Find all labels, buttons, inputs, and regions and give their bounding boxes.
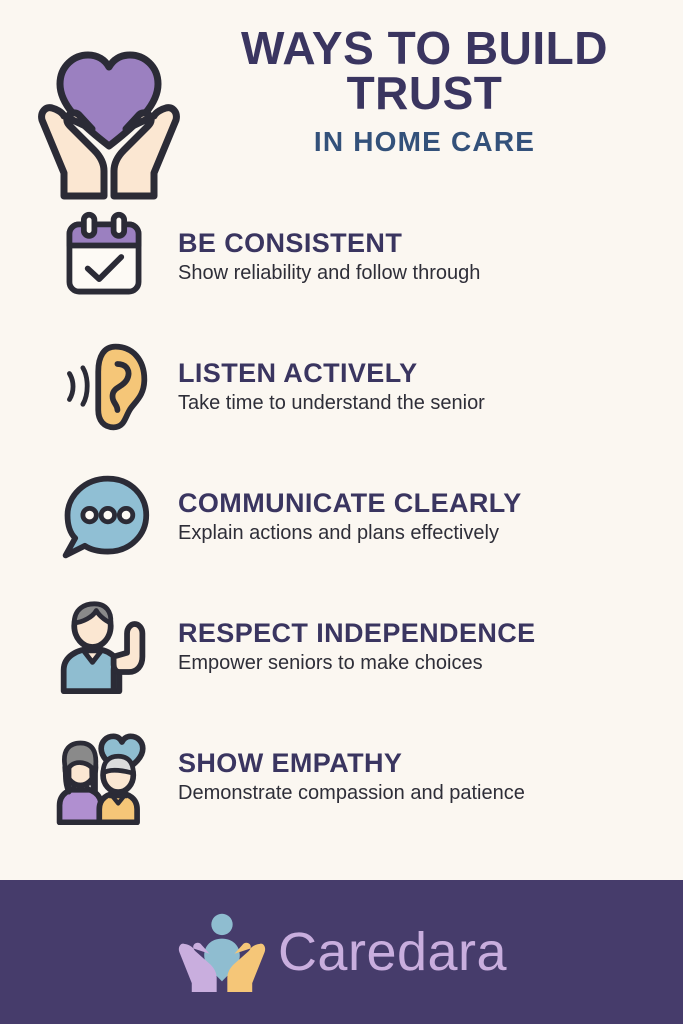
- hands-holding-person-logo-icon: [176, 912, 268, 992]
- list-item: LISTEN ACTIVELY Take time to understand …: [0, 322, 683, 452]
- list-item-desc: Show reliability and follow through: [178, 261, 683, 285]
- list-item-title: LISTEN ACTIVELY: [178, 359, 683, 387]
- list-item-title: COMMUNICATE CLEARLY: [178, 489, 683, 517]
- footer-brand-band: Caredara: [0, 880, 683, 1024]
- list-item-title: BE CONSISTENT: [178, 229, 683, 257]
- list-item-title: SHOW EMPATHY: [178, 749, 683, 777]
- hands-holding-heart-icon: [34, 30, 182, 205]
- speech-bubble-icon: [44, 469, 164, 565]
- list-item-desc: Demonstrate compassion and patience: [178, 781, 683, 805]
- list-item: RESPECT INDEPENDENCE Empower seniors to …: [0, 582, 683, 712]
- list-item-text: COMMUNICATE CLEARLY Explain actions and …: [164, 489, 683, 545]
- two-people-heart-icon: [44, 729, 164, 825]
- list-item-desc: Explain actions and plans effectively: [178, 521, 683, 545]
- page-title: WAYS TO BUILD TRUST: [186, 26, 663, 116]
- tips-list: BE CONSISTENT Show reliability and follo…: [0, 178, 683, 842]
- list-item: BE CONSISTENT Show reliability and follo…: [0, 192, 683, 322]
- header: WAYS TO BUILD TRUST IN HOME CARE: [0, 0, 683, 178]
- page-subtitle: IN HOME CARE: [186, 126, 663, 158]
- calendar-check-icon: [44, 209, 164, 305]
- person-pointing-up-icon: [44, 599, 164, 695]
- header-text-block: WAYS TO BUILD TRUST IN HOME CARE: [182, 22, 663, 158]
- list-item-text: LISTEN ACTIVELY Take time to understand …: [164, 359, 683, 415]
- list-item-desc: Empower seniors to make choices: [178, 651, 683, 675]
- list-item-title: RESPECT INDEPENDENCE: [178, 619, 683, 647]
- list-item-text: SHOW EMPATHY Demonstrate compassion and …: [164, 749, 683, 805]
- list-item: SHOW EMPATHY Demonstrate compassion and …: [0, 712, 683, 842]
- ear-listening-icon: [44, 339, 164, 435]
- list-item-text: RESPECT INDEPENDENCE Empower seniors to …: [164, 619, 683, 675]
- list-item-text: BE CONSISTENT Show reliability and follo…: [164, 229, 683, 285]
- page-title-line2: TRUST: [347, 67, 503, 119]
- list-item-desc: Take time to understand the senior: [178, 391, 683, 415]
- brand-wordmark: Caredara: [278, 925, 507, 979]
- list-item: COMMUNICATE CLEARLY Explain actions and …: [0, 452, 683, 582]
